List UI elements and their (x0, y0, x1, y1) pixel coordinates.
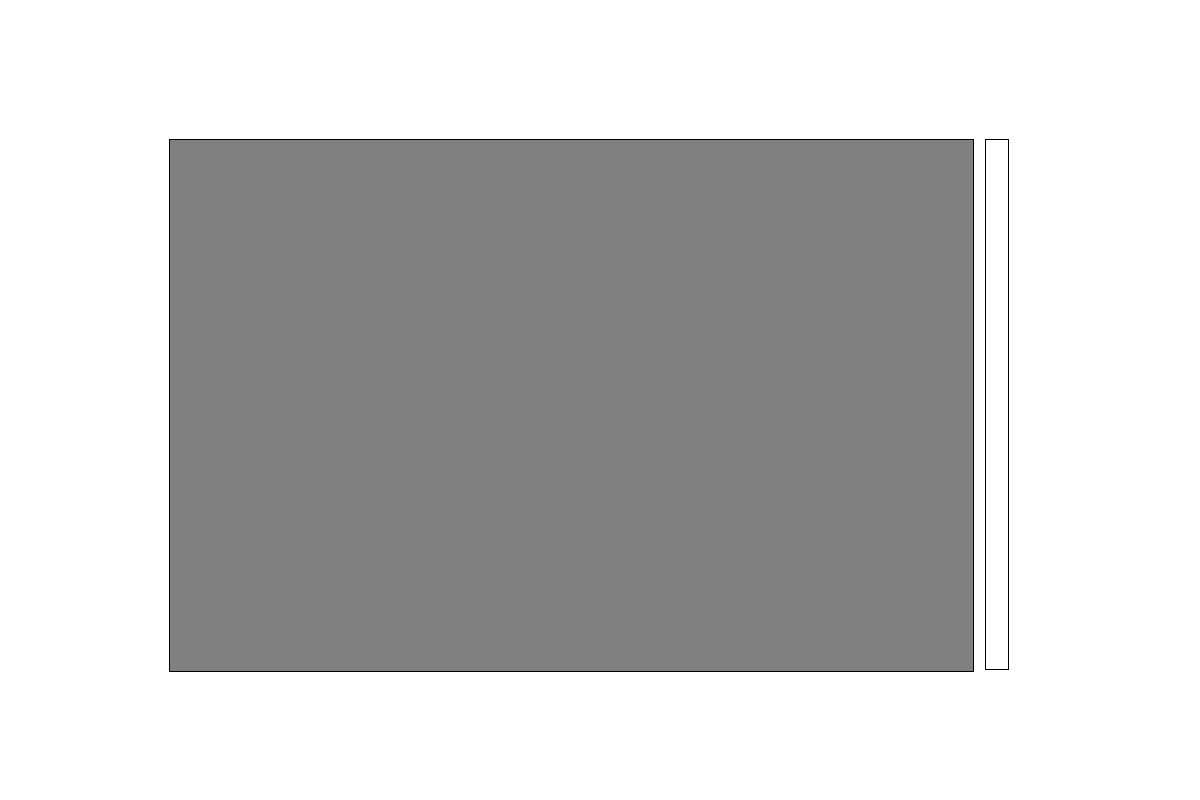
reflectivity-heatmap (170, 140, 973, 671)
radar-figure (0, 0, 1200, 800)
colorbar-gradient (985, 139, 1009, 670)
plot-area (169, 139, 974, 672)
colorbar (985, 139, 1009, 670)
